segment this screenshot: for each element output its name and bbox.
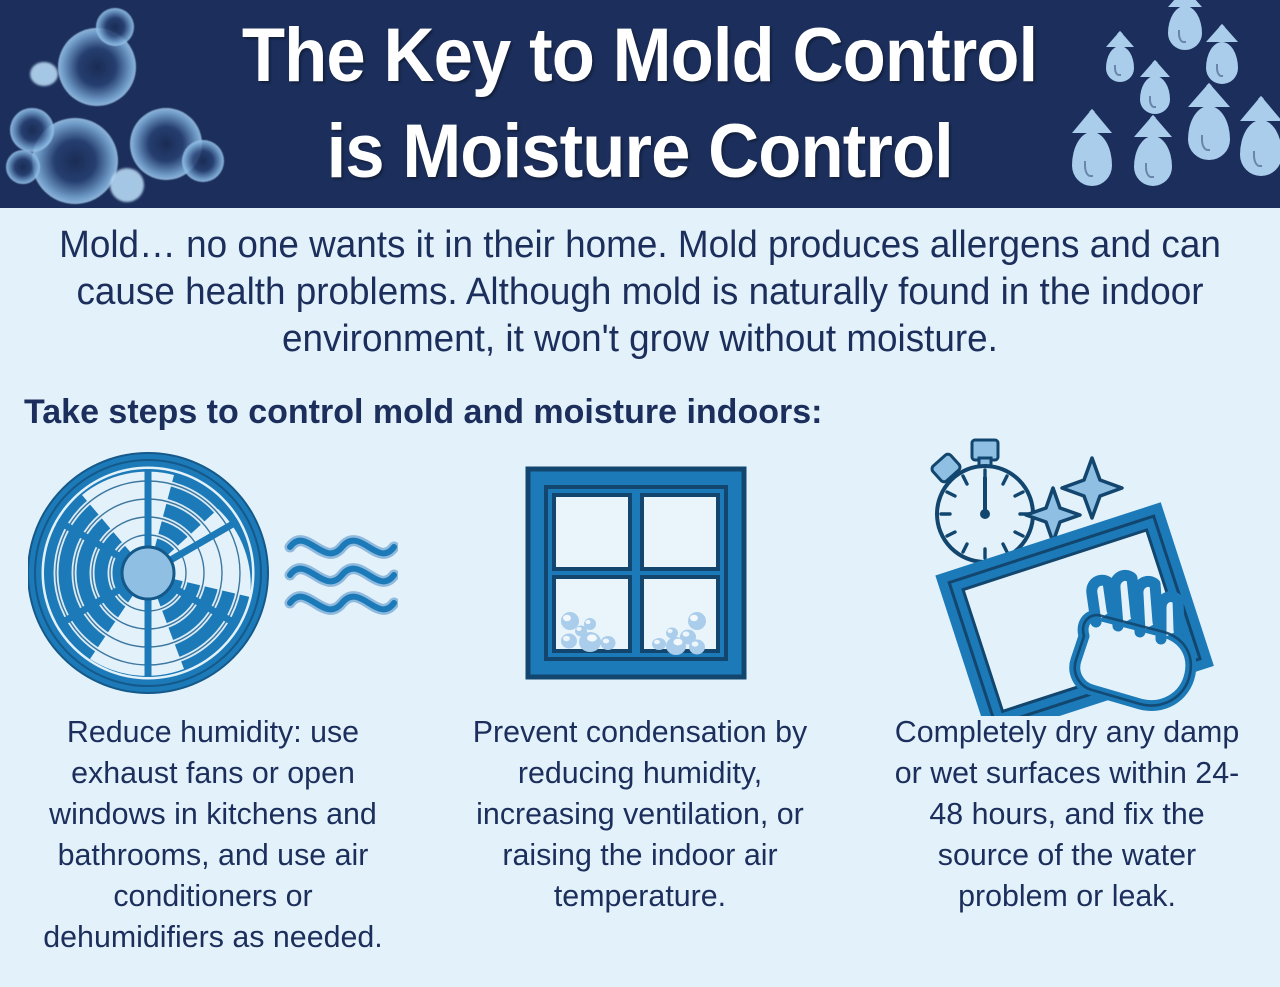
mold-control-infographic: The Key to Mold Control is Moisture Cont… xyxy=(0,0,1280,987)
water-droplets-icon xyxy=(1080,0,1280,208)
droplet-tip xyxy=(1168,0,1202,7)
exhaust-fan-svg xyxy=(28,451,398,701)
title-line-1: The Key to Mold Control xyxy=(242,8,1037,104)
dry-surfaces-svg xyxy=(912,436,1222,716)
droplet-tip xyxy=(1188,83,1230,107)
droplet-tip xyxy=(1140,60,1170,77)
hand-icon xyxy=(1074,575,1190,705)
intro-paragraph: Mold… no one wants it in their home. Mol… xyxy=(19,222,1261,363)
mold-bubbles-icon xyxy=(0,0,260,208)
droplet-tip xyxy=(1240,96,1280,121)
droplet-tip xyxy=(1072,109,1112,133)
section-heading: Take steps to control mold and moisture … xyxy=(24,392,822,432)
droplet-tip xyxy=(1206,24,1238,42)
title-line-2: is Moisture Control xyxy=(327,104,953,200)
stopwatch-icon xyxy=(930,440,1033,562)
step-caption: Completely dry any damp or wet surfaces … xyxy=(885,711,1248,916)
step-column-fan: Reduce humidity: use exhaust fans or ope… xyxy=(0,448,427,957)
step-column-dry: Completely dry any damp or wet surfaces … xyxy=(853,448,1280,916)
window-svg xyxy=(520,461,760,691)
header-banner: The Key to Mold Control is Moisture Cont… xyxy=(0,0,1280,208)
droplet-tip xyxy=(1106,31,1134,47)
dry-surfaces-timer-icon xyxy=(912,448,1222,703)
exhaust-fan-icon xyxy=(28,448,398,703)
step-column-window: Prevent condensation by reducing humidit… xyxy=(427,448,854,916)
step-caption: Prevent condensation by reducing humidit… xyxy=(459,711,822,916)
droplet-tip xyxy=(1134,115,1172,137)
step-caption: Reduce humidity: use exhaust fans or ope… xyxy=(32,711,395,957)
steps-row: Reduce humidity: use exhaust fans or ope… xyxy=(0,448,1280,957)
sparkle-icon-large xyxy=(1062,458,1122,518)
condensation-window-icon xyxy=(520,448,760,703)
